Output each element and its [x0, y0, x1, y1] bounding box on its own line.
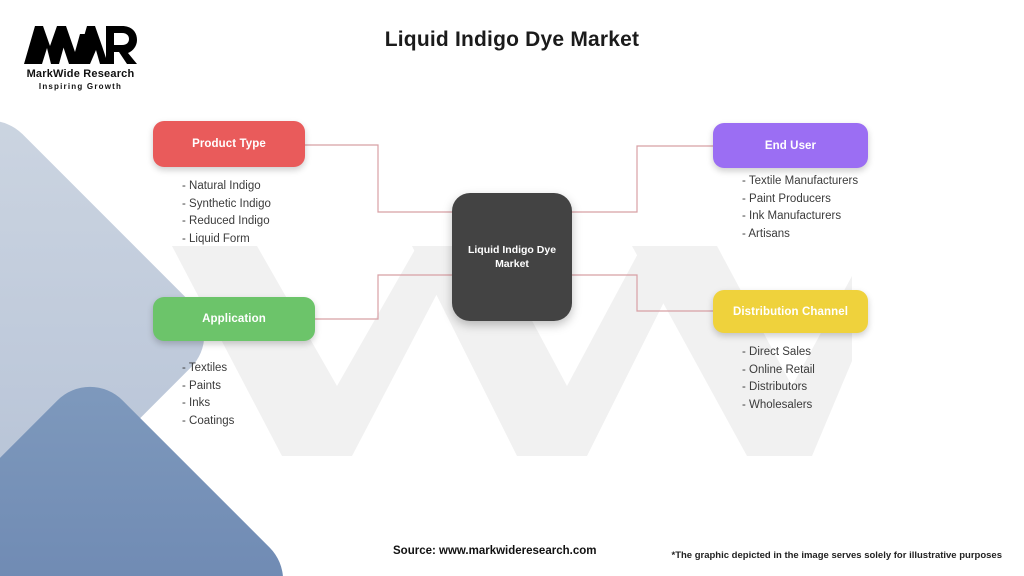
infographic-canvas: MarkWide Research Inspiring Growth Liqui… — [0, 0, 1024, 576]
list-item: - Direct Sales — [742, 344, 815, 362]
logo-company-name: MarkWide Research — [18, 68, 143, 80]
disclaimer-note: *The graphic depicted in the image serve… — [672, 550, 1003, 561]
list-item: - Ink Manufacturers — [742, 208, 858, 226]
list-item: - Synthetic Indigo — [182, 196, 271, 214]
list-item: - Natural Indigo — [182, 178, 271, 196]
list-item: - Textile Manufacturers — [742, 173, 858, 191]
list-item: - Coatings — [182, 413, 234, 431]
branch-node-distribution-channel[interactable]: Distribution Channel — [713, 290, 868, 333]
center-node: Liquid Indigo Dye Market — [452, 193, 572, 321]
list-item: - Paint Producers — [742, 191, 858, 209]
list-item: - Distributors — [742, 379, 815, 397]
item-list-distribution-channel: - Direct Sales - Online Retail - Distrib… — [742, 344, 815, 414]
list-item: - Textiles — [182, 360, 234, 378]
branch-node-product-type[interactable]: Product Type — [153, 121, 305, 167]
list-item: - Wholesalers — [742, 397, 815, 415]
source-label: Source: www.markwideresearch.com — [393, 545, 596, 557]
list-item: - Artisans — [742, 226, 858, 244]
branch-node-application[interactable]: Application — [153, 297, 315, 341]
decorative-shape-dark — [0, 368, 302, 576]
list-item: - Inks — [182, 395, 234, 413]
logo-tagline: Inspiring Growth — [18, 82, 143, 91]
page-title: Liquid Indigo Dye Market — [0, 28, 1024, 52]
list-item: - Liquid Form — [182, 231, 271, 249]
list-item: - Online Retail — [742, 362, 815, 380]
item-list-end-user: - Textile Manufacturers - Paint Producer… — [742, 173, 858, 243]
item-list-application: - Textiles - Paints - Inks - Coatings — [182, 360, 234, 430]
branch-node-end-user[interactable]: End User — [713, 123, 868, 168]
item-list-product-type: - Natural Indigo - Synthetic Indigo - Re… — [182, 178, 271, 248]
list-item: - Reduced Indigo — [182, 213, 271, 231]
list-item: - Paints — [182, 378, 234, 396]
